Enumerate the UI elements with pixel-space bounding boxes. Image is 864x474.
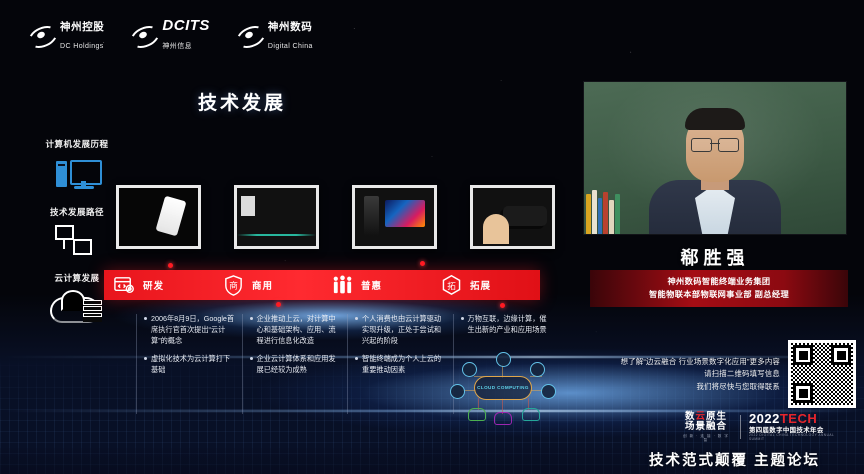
- diagram-hub: CLOUD COMPUTING: [474, 376, 532, 400]
- thumbnail-early-computer-room: [116, 185, 201, 249]
- svg-text:商: 商: [229, 279, 238, 291]
- event-logo-right: 2022TECH 第四届数字中国技术年会 2022 DIGITAL CHINA …: [749, 412, 850, 442]
- list-item: 企业云计算体系和应用发展已经较为成熟: [250, 354, 341, 376]
- bookshelf: [586, 190, 620, 234]
- slide-content: 技术发展 计算机发展历程 技术发展路径 云计算发展: [0, 62, 566, 362]
- speaker-title-ribbon: 神州数码智能终端业务集团 智能物联本部物联网事业部 副总经理: [590, 270, 848, 307]
- logo-dcits: DCITS 神州信息: [130, 17, 210, 53]
- svg-text:拓: 拓: [447, 279, 456, 291]
- stage-label: 研发: [143, 278, 164, 292]
- list-item: 虚拟化技术为云计算打下基础: [144, 354, 235, 376]
- event-logo-line-2: 场景融合: [680, 422, 732, 433]
- glasses-icon: [691, 138, 739, 150]
- diagram-node: [541, 384, 556, 399]
- bullet-dot-icon: [250, 317, 253, 320]
- dc-swoosh-icon: [236, 25, 262, 45]
- row-label-tech-path: 技术发展路径: [34, 206, 120, 257]
- diagram-node: [496, 352, 511, 367]
- diagram-hub-label: CLOUD COMPUTING: [477, 385, 529, 391]
- event-logo-left: 数云原生 场景融合 创 新 · 连 接 · 数 字 智: [680, 412, 732, 442]
- speaker-portrait: [649, 122, 781, 234]
- divider: [740, 415, 741, 439]
- cloud-dev-section-label: [26, 314, 136, 414]
- speaker-panel: 郗胜强 神州数码智能终端业务集团 智能物联本部物联网事业部 副总经理 想了解“边…: [566, 62, 864, 474]
- event-tech-word: TECH: [780, 411, 817, 426]
- expand-hexagon-icon: 拓: [440, 274, 463, 297]
- event-name-en: 2022 DIGITAL CHINA TECHNOLOGY ANNUAL SUM…: [749, 434, 850, 441]
- event-logo-subtitle: 创 新 · 连 接 · 数 字 智: [680, 434, 732, 442]
- logo-cn-label: 神州数码: [268, 21, 312, 33]
- qr-text-line-3: 我们将尽快与您取得联系: [580, 381, 780, 393]
- forum-title: 技术范式颠覆 主题论坛: [649, 449, 820, 470]
- speaker-video-feed[interactable]: [584, 82, 846, 234]
- cloud-computing-diagram: CLOUD COMPUTING: [448, 350, 556, 422]
- diagram-cloud-node: [522, 408, 540, 421]
- shield-commerce-icon: 商: [222, 274, 245, 297]
- row-label-text: 技术发展路径: [34, 206, 120, 218]
- list-item: 智能终端成为个人上云的重要推动因素: [355, 354, 446, 376]
- event-year: 2022: [749, 411, 780, 426]
- thumbnail-tianhe-2-supercomputer: [234, 185, 319, 249]
- speaker-role: 智能物联本部物联网事业部 副总经理: [594, 289, 844, 302]
- brand-logo-bar: 神州控股 DC Holdings DCITS 神州信息 神州数码 Digital…: [28, 17, 313, 53]
- timeline-marker-dot: [168, 263, 173, 268]
- diagram-cloud-node: [494, 412, 512, 425]
- list-item: 企业推动上云，对计算中心和基础架构、应用、流程进行信息化改造: [250, 314, 341, 346]
- list-item: 2006年8月9日，Google首席执行官首次提出“云计算”的概念: [144, 314, 235, 346]
- stage-label: 普惠: [361, 278, 382, 292]
- thumbnail-desktop-pc-monitor: [352, 185, 437, 249]
- page-title: 技术发展: [198, 88, 286, 115]
- code-gear-icon: [113, 274, 136, 297]
- dc-swoosh-icon: [28, 25, 54, 45]
- bullet-column-1: 2006年8月9日，Google首席执行官首次提出“云计算”的概念 虚拟化技术为…: [136, 314, 242, 414]
- bullet-column-3: 个人消费也由云计算驱动实现升级，正处于尝试和兴起的阶段 智能终端成为个人上云的重…: [347, 314, 453, 414]
- event-logo: 数云原生 场景融合 创 新 · 连 接 · 数 字 智 2022TECH 第四届…: [680, 410, 850, 444]
- qr-text-line-2: 请扫描二维码填写信息: [580, 368, 780, 380]
- logo-cn-label: DCITS: [162, 17, 210, 34]
- bullet-column-2: 企业推动上云，对计算中心和基础架构、应用、流程进行信息化改造 企业云计算体系和应…: [242, 314, 348, 414]
- diagram-node: [530, 362, 545, 377]
- footer-bar: 技术范式颠覆 主题论坛: [0, 448, 864, 474]
- qr-text-line-1: 想了解“边云融合 行业场景数字化应用”更多内容: [580, 356, 780, 368]
- bullet-dot-icon: [355, 357, 358, 360]
- timeline-marker-dot: [500, 303, 505, 308]
- technology-stage-timeline: 研发 商 商用 普惠: [104, 270, 540, 300]
- bullet-dot-icon: [144, 317, 147, 320]
- logo-dc-holdings: 神州控股 DC Holdings: [28, 17, 104, 53]
- stage-item-rd: 研发: [104, 274, 213, 297]
- stage-label: 拓展: [470, 278, 491, 292]
- logo-digital-china: 神州数码 Digital China: [236, 17, 313, 53]
- qr-instruction-text: 想了解“边云融合 行业场景数字化应用”更多内容 请扫描二维码填写信息 我们将尽快…: [580, 356, 780, 393]
- flowchart-icon: [55, 225, 99, 257]
- list-item: 个人消费也由云计算驱动实现升级，正处于尝试和兴起的阶段: [355, 314, 446, 346]
- speaker-name: 郗胜强: [566, 244, 864, 270]
- diagram-cloud-node: [468, 408, 486, 421]
- timeline-marker-dot: [276, 302, 281, 307]
- stage-item-inclusive: 普惠: [322, 274, 431, 297]
- presentation-stage: 神州控股 DC Holdings DCITS 神州信息 神州数码 Digital…: [0, 0, 864, 474]
- row-label-text: 计算机发展历程: [34, 138, 120, 150]
- timeline-marker-dot: [420, 261, 425, 266]
- bullet-dot-icon: [461, 317, 464, 320]
- logo-en-label: Digital China: [268, 43, 313, 50]
- bullet-dot-icon: [355, 317, 358, 320]
- logo-cn-label: 神州控股: [60, 21, 104, 33]
- logo-en-label: 神州信息: [162, 43, 192, 50]
- diagram-node: [450, 384, 465, 399]
- stage-label: 商用: [252, 278, 273, 292]
- dc-swoosh-icon: [130, 25, 156, 45]
- computer-icon: [54, 157, 100, 191]
- diagram-node: [462, 362, 477, 377]
- row-label-computer-history: 计算机发展历程: [34, 138, 120, 191]
- bullet-dot-icon: [144, 357, 147, 360]
- stage-item-commercial: 商 商用: [213, 274, 322, 297]
- speaker-org: 神州数码智能终端业务集团: [594, 276, 844, 289]
- people-group-icon: [331, 274, 354, 297]
- stage-item-expansion: 拓 拓展: [431, 274, 540, 297]
- bullet-dot-icon: [250, 357, 253, 360]
- thumbnail-vr-headset: [470, 185, 555, 249]
- contact-qr-code[interactable]: [788, 340, 856, 408]
- thumbnail-strip: [116, 185, 555, 249]
- list-item: 万物互联，边缘计算，催生出新的产业和应用场景: [461, 314, 552, 336]
- logo-en-label: DC Holdings: [60, 43, 104, 50]
